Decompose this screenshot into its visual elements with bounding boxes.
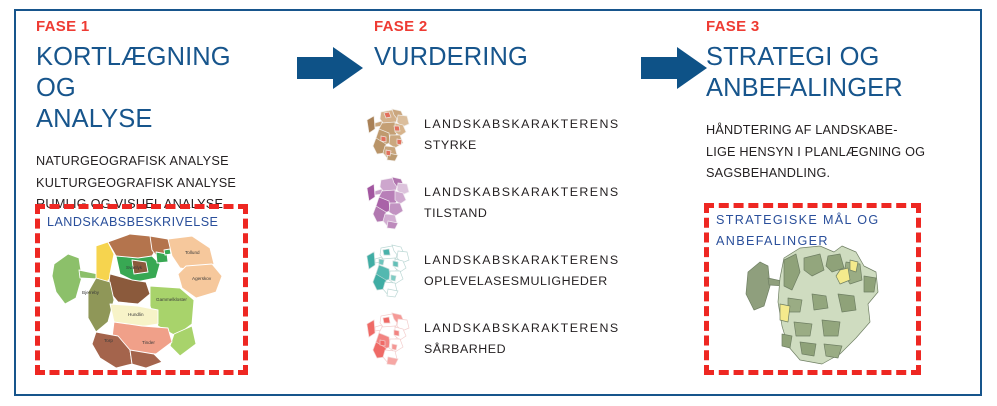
criteria-text-tilstand: LANDSKABSKARAKTERENS TILSTAND: [424, 175, 620, 224]
svg-text:Agerskov: Agerskov: [192, 276, 212, 281]
phase-3-body: HÅNDTERING AF LANDSKABE- LIGE HENSYN I P…: [706, 120, 932, 185]
criteria-line2: OPLEVELASESMULIGHEDER: [424, 271, 620, 292]
criteria-line1: LANDSKABSKARAKTERENS: [424, 182, 620, 203]
municipality-character-map: Tollund Agerskov Svanlyk Gammelkloster H…: [46, 230, 238, 370]
phase-3-tag: FASE 3: [706, 18, 956, 35]
criteria-line2: STYRKE: [424, 135, 620, 156]
svg-text:Torp: Torp: [104, 338, 113, 343]
map-thumb-styrke: [362, 107, 414, 163]
criteria-line1: LANDSKABSKARAKTERENS: [424, 250, 620, 271]
phase-column-3: FASE 3 STRATEGI OG ANBEFALINGER HÅNDTERI…: [706, 18, 956, 185]
phase-diagram: FASE 1 KORTLÆGNING OG ANALYSE NATURGEOGR…: [0, 0, 997, 406]
criteria-item-styrke: LANDSKABSKARAKTERENS STYRKE: [362, 107, 662, 175]
criteria-line1: LANDSKABSKARAKTERENS: [424, 114, 620, 135]
arrow-phase1-to-phase2: [297, 45, 363, 91]
criteria-text-oplevelsesmuligheder: LANDSKABSKARAKTERENS OPLEVELASESMULIGHED…: [424, 243, 620, 292]
criteria-text-saarbarhed: LANDSKABSKARAKTERENS SÅRBARHED: [424, 311, 620, 360]
phase-1-title: KORTLÆGNING OG ANALYSE: [36, 42, 276, 135]
criteria-item-tilstand: LANDSKABSKARAKTERENS TILSTAND: [362, 175, 662, 243]
phase-column-1: FASE 1 KORTLÆGNING OG ANALYSE NATURGEOGR…: [36, 18, 276, 216]
svg-text:Svanlyk: Svanlyk: [126, 265, 143, 270]
svg-text:Tinder: Tinder: [142, 340, 155, 345]
map-thumb-saarbarhed: [362, 311, 414, 367]
map-thumb-tilstand: [362, 175, 414, 231]
criteria-item-oplevelsesmuligheder: LANDSKABSKARAKTERENS OPLEVELASESMULIGHED…: [362, 243, 662, 311]
phase-3-title: STRATEGI OG ANBEFALINGER: [706, 42, 956, 104]
arrow-phase2-to-phase3: [641, 45, 707, 91]
criteria-list: LANDSKABSKARAKTERENS STYRKE: [362, 107, 662, 379]
criteria-line2: SÅRBARHED: [424, 339, 620, 360]
phase-2-tag: FASE 2: [374, 18, 654, 35]
criteria-item-saarbarhed: LANDSKABSKARAKTERENS SÅRBARHED: [362, 311, 662, 379]
criteria-text-styrke: LANDSKABSKARAKTERENS STYRKE: [424, 107, 620, 156]
criteria-line1: LANDSKABSKARAKTERENS: [424, 318, 620, 339]
phase-column-2: FASE 2 VURDERING: [374, 18, 654, 73]
map-thumb-oplevelsesmuligheder: [362, 243, 414, 299]
phase-2-title: VURDERING: [374, 42, 654, 73]
criteria-line2: TILSTAND: [424, 203, 620, 224]
svg-text:Tollund: Tollund: [185, 250, 200, 255]
svg-text:Hundlin: Hundlin: [128, 312, 144, 317]
strategy-map: [742, 242, 886, 370]
svg-text:Bjerreby: Bjerreby: [82, 290, 100, 295]
phase-1-tag: FASE 1: [36, 18, 276, 35]
svg-text:Gammelkloster: Gammelkloster: [156, 297, 187, 302]
